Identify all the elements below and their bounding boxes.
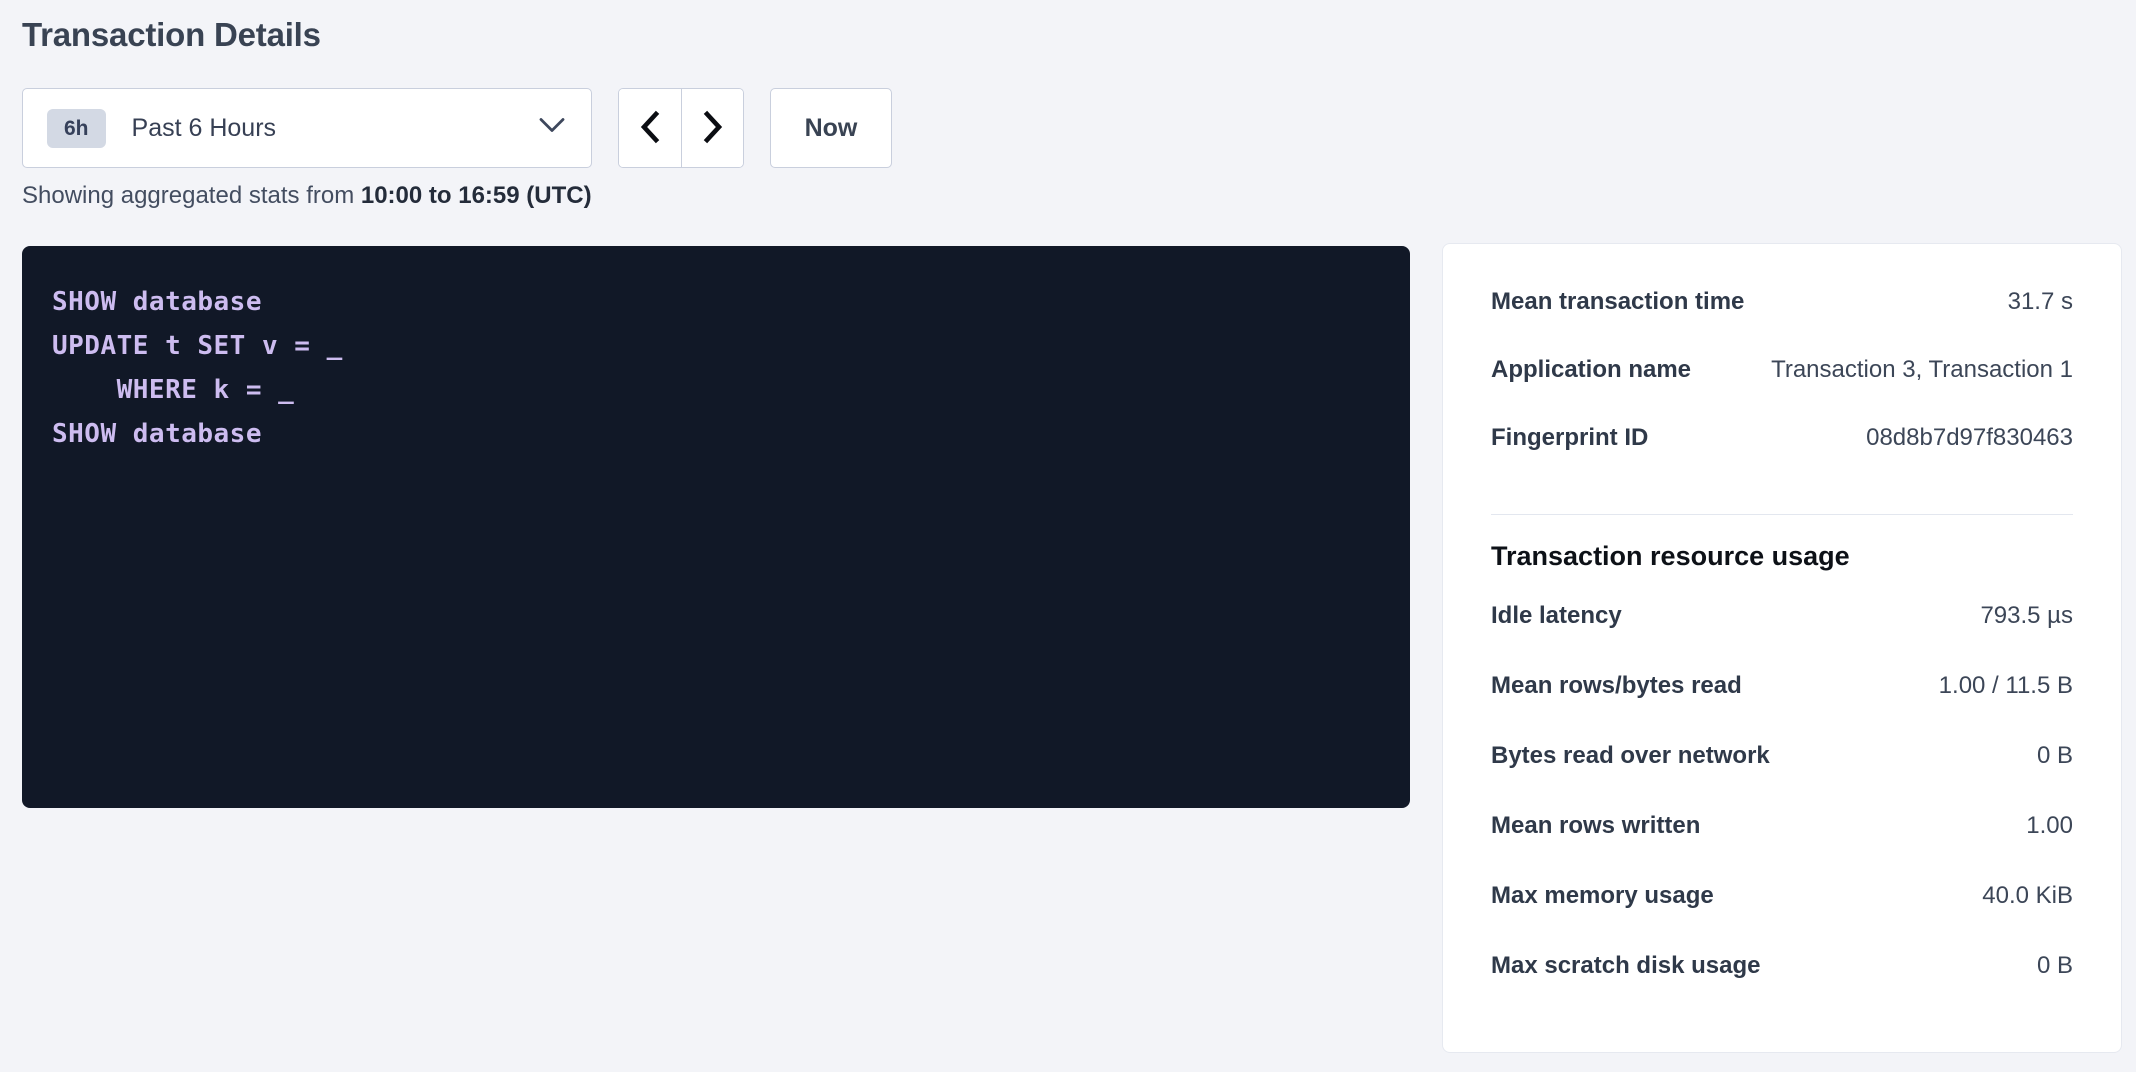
time-range-badge: 6h bbox=[47, 109, 106, 148]
next-period-button[interactable] bbox=[681, 89, 743, 167]
aggregation-range-text: Showing aggregated stats from 10:00 to 1… bbox=[22, 182, 592, 210]
sql-statement-text: SHOW database UPDATE t SET v = _ WHERE k… bbox=[52, 280, 1380, 456]
resource-usage-title: Transaction resource usage bbox=[1491, 541, 2073, 572]
stat-label: Fingerprint ID bbox=[1491, 424, 1648, 452]
sql-code-panel[interactable]: SHOW database UPDATE t SET v = _ WHERE k… bbox=[22, 246, 1410, 808]
chevron-down-icon bbox=[539, 118, 565, 139]
stat-value: 793.5 µs bbox=[1980, 602, 2073, 630]
stat-row: Fingerprint ID 08d8b7d97f830463 bbox=[1491, 424, 2073, 492]
aggregation-range-prefix: Showing aggregated stats from bbox=[22, 182, 361, 209]
now-button[interactable]: Now bbox=[770, 88, 892, 168]
time-nav-group bbox=[618, 88, 744, 168]
stat-row: Mean transaction time 31.7 s bbox=[1491, 288, 2073, 356]
stat-label: Mean rows/bytes read bbox=[1491, 672, 1742, 700]
page-title: Transaction Details bbox=[22, 16, 321, 54]
stat-row: Max scratch disk usage 0 B bbox=[1491, 952, 2073, 1022]
section-divider bbox=[1491, 514, 2073, 515]
stat-value: 1.00 / 11.5 B bbox=[1939, 672, 2073, 700]
transaction-details-page: Transaction Details 6h Past 6 Hours bbox=[0, 0, 2136, 1072]
stat-value: 0 B bbox=[2037, 742, 2073, 770]
stat-label: Max scratch disk usage bbox=[1491, 952, 1760, 980]
stat-row: Application name Transaction 3, Transact… bbox=[1491, 356, 2073, 424]
stat-label: Mean transaction time bbox=[1491, 288, 1744, 316]
chevron-left-icon bbox=[637, 110, 663, 147]
stat-label: Application name bbox=[1491, 356, 1691, 384]
previous-period-button[interactable] bbox=[619, 89, 681, 167]
aggregation-range-value: 10:00 to 16:59 (UTC) bbox=[361, 182, 592, 209]
stat-value: Transaction 3, Transaction 1 bbox=[1771, 356, 2073, 384]
stat-label: Idle latency bbox=[1491, 602, 1622, 630]
time-range-label: Past 6 Hours bbox=[132, 114, 277, 143]
stat-value: 31.7 s bbox=[2008, 288, 2073, 316]
time-range-select[interactable]: 6h Past 6 Hours bbox=[22, 88, 592, 168]
resource-usage-list: Idle latency 793.5 µs Mean rows/bytes re… bbox=[1491, 602, 2073, 1022]
stat-row: Idle latency 793.5 µs bbox=[1491, 602, 2073, 672]
stat-row: Mean rows/bytes read 1.00 / 11.5 B bbox=[1491, 672, 2073, 742]
stat-label: Mean rows written bbox=[1491, 812, 1700, 840]
stat-label: Max memory usage bbox=[1491, 882, 1714, 910]
stat-row: Max memory usage 40.0 KiB bbox=[1491, 882, 2073, 952]
stat-row: Mean rows written 1.00 bbox=[1491, 812, 2073, 882]
time-range-toolbar: 6h Past 6 Hours bbox=[22, 88, 892, 168]
stat-label: Bytes read over network bbox=[1491, 742, 1770, 770]
chevron-right-icon bbox=[700, 110, 726, 147]
stat-value: 0 B bbox=[2037, 952, 2073, 980]
stat-value: 08d8b7d97f830463 bbox=[1866, 424, 2073, 452]
stat-value: 40.0 KiB bbox=[1982, 882, 2073, 910]
summary-stats-list: Mean transaction time 31.7 s Application… bbox=[1491, 288, 2073, 492]
stat-value: 1.00 bbox=[2026, 812, 2073, 840]
transaction-details-card: Mean transaction time 31.7 s Application… bbox=[1442, 243, 2122, 1053]
stat-row: Bytes read over network 0 B bbox=[1491, 742, 2073, 812]
